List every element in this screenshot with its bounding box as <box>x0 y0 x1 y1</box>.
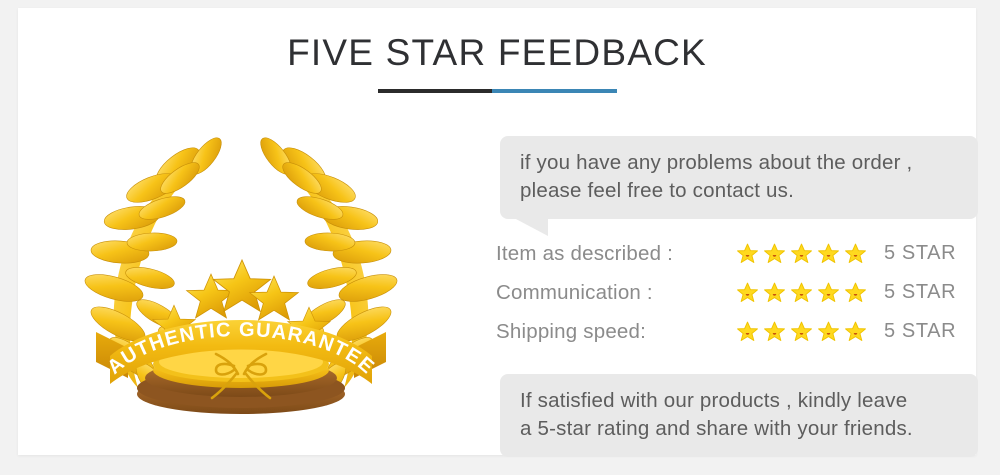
page-title: FIVE STAR FEEDBACK <box>18 30 976 76</box>
star-icon <box>790 320 813 343</box>
rating-list: Item as described : 5 STAR Communication… <box>496 234 978 351</box>
star-icon <box>844 320 867 343</box>
star-icon <box>736 242 759 265</box>
rating-row-shipping-speed: Shipping speed: 5 STAR <box>496 312 978 351</box>
rating-row-communication: Communication : 5 STAR <box>496 273 978 312</box>
feedback-banner: FIVE STAR FEEDBACK <box>0 0 1000 475</box>
rating-stars <box>736 320 884 343</box>
underline-blue-segment <box>492 89 616 93</box>
rating-request-bubble: If satisfied with our products , kindly … <box>500 374 978 457</box>
rating-stars <box>736 242 884 265</box>
page-header: FIVE STAR FEEDBACK <box>18 30 976 93</box>
rating-value: 5 STAR <box>884 281 956 304</box>
star-icon <box>736 320 759 343</box>
rating-request-line-2: a 5-star rating and share with your frie… <box>520 415 960 443</box>
authentic-guarantee-emblem: AUTHENTIC GUARANTEE <box>66 126 416 416</box>
rating-label: Item as described : <box>496 242 736 266</box>
feedback-details: if you have any problems about the order… <box>478 126 978 426</box>
rating-label: Shipping speed: <box>496 320 736 344</box>
star-icon <box>844 242 867 265</box>
star-icon <box>763 320 786 343</box>
contact-message-line-1: if you have any problems about the order… <box>520 149 960 177</box>
rating-stars <box>736 281 884 304</box>
star-icon <box>790 242 813 265</box>
star-icon <box>844 281 867 304</box>
underline-dark-segment <box>378 89 493 93</box>
star-icon <box>736 281 759 304</box>
star-icon <box>817 320 840 343</box>
contact-message-line-2: please feel free to contact us. <box>520 177 960 205</box>
contact-message-bubble: if you have any problems about the order… <box>500 136 978 219</box>
rating-request-line-1: If satisfied with our products , kindly … <box>520 387 960 415</box>
rating-label: Communication : <box>496 281 736 305</box>
rating-value: 5 STAR <box>884 320 956 343</box>
feedback-card: FIVE STAR FEEDBACK <box>18 8 976 455</box>
rating-value: 5 STAR <box>884 242 956 265</box>
star-icon <box>817 281 840 304</box>
star-icon <box>790 281 813 304</box>
rating-row-item-as-described: Item as described : 5 STAR <box>496 234 978 273</box>
star-icon <box>763 242 786 265</box>
title-underline <box>378 89 617 93</box>
star-icon <box>763 281 786 304</box>
star-icon <box>817 242 840 265</box>
